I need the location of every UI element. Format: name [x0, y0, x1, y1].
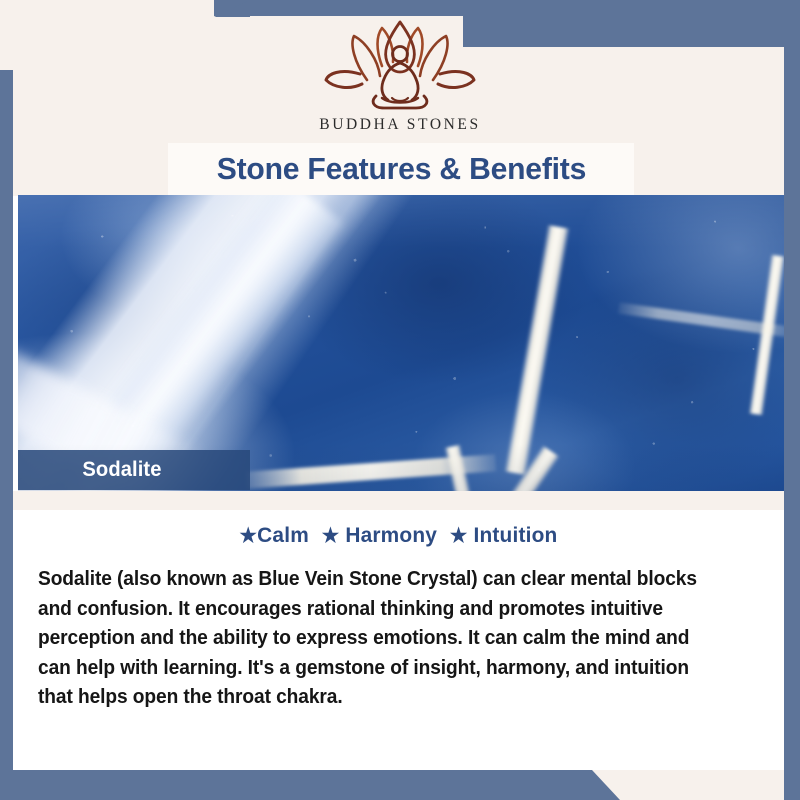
stone-shading-overlay: [18, 195, 784, 491]
decor-band-top-inner: [214, 0, 800, 16]
star-icon: ★: [450, 525, 468, 547]
stone-description: Sodalite (also known as Blue Vein Stone …: [38, 565, 719, 713]
page-title-banner: Stone Features & Benefits: [168, 143, 634, 195]
bottom-corner-fill: [592, 770, 800, 800]
infographic-page: BUDDHA STONES Stone Features & Benefits …: [0, 0, 800, 800]
stone-image: [18, 195, 784, 491]
keyword-intuition: Intuition: [473, 523, 557, 547]
separator-strip: [13, 491, 784, 510]
keyword-list: ★Calm ★ Harmony ★ Intuition: [25, 523, 773, 548]
brand-name: BUDDHA STONES: [0, 116, 800, 134]
decor-band-right: [784, 16, 800, 800]
star-icon: ★: [322, 525, 340, 547]
stone-name-bar: Sodalite: [18, 450, 250, 490]
keyword-calm: Calm: [257, 523, 309, 547]
keyword-harmony: Harmony: [345, 523, 437, 547]
lotus-meditation-figure-icon: [320, 18, 480, 112]
page-title: Stone Features & Benefits: [216, 151, 585, 187]
content-panel: ★Calm ★ Harmony ★ Intuition Sodalite (al…: [13, 510, 784, 770]
decor-band-left: [0, 70, 13, 800]
star-icon: ★: [240, 525, 258, 547]
stone-name: Sodalite: [21, 458, 162, 482]
decor-band-bottom: [0, 770, 620, 800]
